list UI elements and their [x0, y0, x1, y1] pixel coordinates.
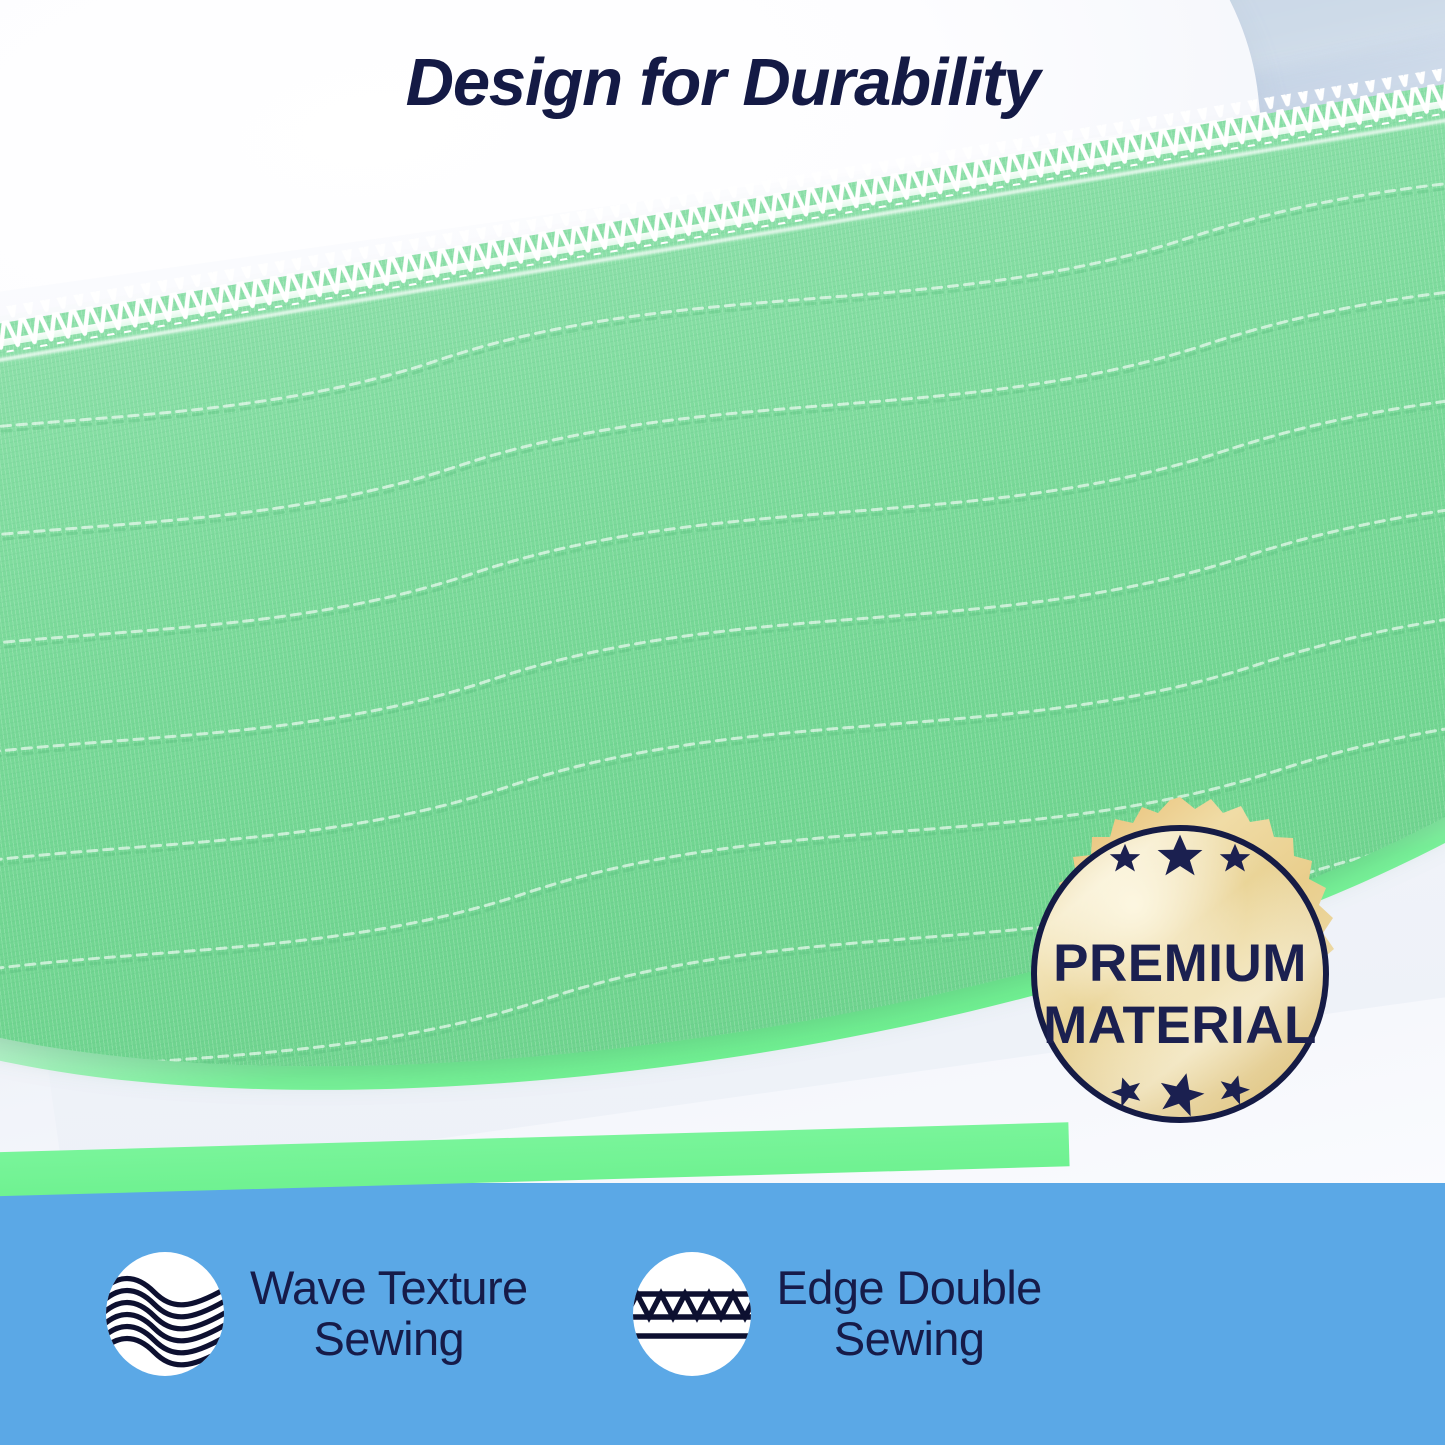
product-photo: PREMIUM MATERIAL — [0, 0, 1445, 1190]
zigzag-stitch-icon — [633, 1252, 751, 1376]
feature-list: Wave Texture Sewing Edge Double Sewing — [0, 1183, 1445, 1445]
feature-banner: Wave Texture Sewing Edge Double Sewing — [0, 1183, 1445, 1445]
badge-line-1: PREMIUM — [1053, 934, 1307, 993]
premium-material-badge: PREMIUM MATERIAL — [1005, 795, 1355, 1153]
feature-label-wave-texture-sewing: Wave Texture Sewing — [250, 1263, 528, 1365]
product-feature-image: PREMIUM MATERIAL Design for Durabilit — [0, 0, 1445, 1445]
feature-edge-double-sewing: Edge Double Sewing — [633, 1252, 1042, 1376]
feature-label-edge-double-sewing: Edge Double Sewing — [777, 1263, 1042, 1365]
feature-wave-texture-sewing: Wave Texture Sewing — [106, 1252, 528, 1376]
wave-lines-icon — [106, 1252, 224, 1376]
badge-line-2: MATERIAL — [1043, 996, 1317, 1055]
page-title: Design for Durability — [0, 44, 1445, 121]
